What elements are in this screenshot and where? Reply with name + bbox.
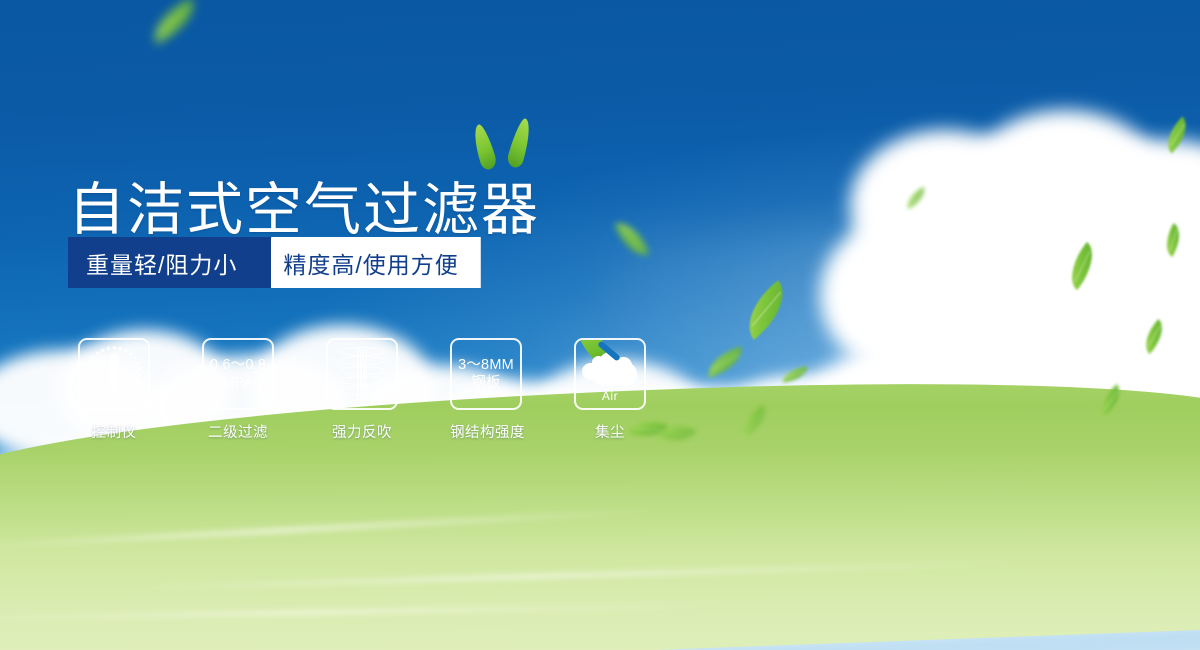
- feature-item-pressure: 0.6～0.8 MPA 二级过滤: [202, 338, 274, 442]
- feature-list: NO OFF 控制仪 0.6～0.8 MPA 二级过滤: [78, 338, 646, 442]
- steel-line2: 钢板: [458, 374, 514, 392]
- filter-stack-icon: [339, 347, 385, 401]
- pressure-line1: 0.6～0.8: [210, 357, 266, 373]
- steel-line1: 3～8MM: [458, 357, 514, 373]
- steel-plate-text-icon: 3～8MM 钢板: [458, 356, 514, 392]
- feature-caption: 集尘: [574, 421, 646, 442]
- dial-pointer: [110, 354, 119, 392]
- feature-icon-box: 3～8MM 钢板: [450, 338, 522, 410]
- feature-item-blowback: 强力反吹: [326, 338, 398, 442]
- feature-icon-box: Air: [574, 338, 646, 410]
- subtitle-segment-left: 重量轻/阻力小: [68, 237, 271, 288]
- pressure-line2: MPA: [210, 374, 266, 392]
- sprout-leaves-decoration: [474, 112, 544, 172]
- page-title: 自洁式空气过滤器: [68, 182, 540, 239]
- subtitle-segment-right: 精度高/使用方便: [249, 237, 480, 288]
- air-label: Air: [579, 389, 641, 403]
- cloud-air-icon: Air: [579, 346, 641, 402]
- feature-caption: 二级过滤: [202, 421, 274, 442]
- feature-caption: 控制仪: [78, 421, 150, 442]
- subtitle-bar: 重量轻/阻力小 精度高/使用方便: [68, 237, 481, 288]
- feature-item-steel: 3～8MM 钢板 钢结构强度: [450, 338, 522, 442]
- dial-label-off: OFF: [129, 388, 143, 395]
- feature-caption: 强力反吹: [326, 421, 398, 442]
- feature-item-control: NO OFF 控制仪: [78, 338, 150, 442]
- dial-label-on: NO: [83, 372, 93, 379]
- product-banner: 自洁式空气过滤器 重量轻/阻力小 精度高/使用方便: [0, 0, 1200, 650]
- feature-caption: 钢结构强度: [450, 421, 522, 442]
- feature-icon-box: 0.6～0.8 MPA: [202, 338, 274, 410]
- pressure-text-icon: 0.6～0.8 MPA: [210, 356, 266, 392]
- feature-item-dust: Air 集尘: [574, 338, 646, 442]
- sprout-leaf-right: [505, 117, 534, 169]
- feature-icon-box: [326, 338, 398, 410]
- control-dial-icon: NO OFF: [83, 345, 145, 403]
- sprout-leaf-left: [470, 123, 499, 172]
- feature-icon-box: NO OFF: [78, 338, 150, 410]
